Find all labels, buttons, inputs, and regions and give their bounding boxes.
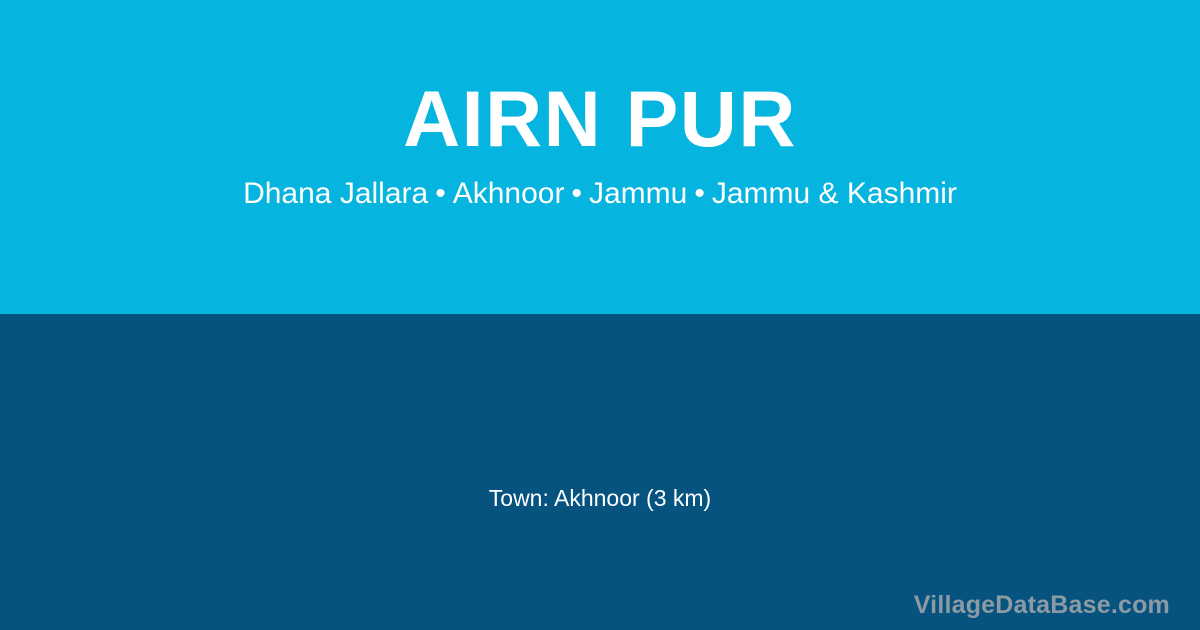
site-watermark: VillageDataBase.com <box>914 590 1170 620</box>
village-info-card: AIRN PUR Dhana Jallara•Akhnoor•Jammu•Jam… <box>0 0 1200 630</box>
breadcrumb-separator: • <box>564 177 589 210</box>
breadcrumb-separator: • <box>428 177 453 210</box>
nearest-town-detail: Town: Akhnoor (3 km) <box>0 485 1200 513</box>
breadcrumb-item-district: Jammu <box>589 177 687 210</box>
breadcrumb-separator: • <box>687 177 712 210</box>
breadcrumb-item-state: Jammu & Kashmir <box>712 177 957 210</box>
page-title: AIRN PUR <box>403 78 797 161</box>
body-section: Town: Akhnoor (3 km) <box>0 314 1200 630</box>
breadcrumb-item-town: Akhnoor <box>453 177 565 210</box>
header-section: AIRN PUR Dhana Jallara•Akhnoor•Jammu•Jam… <box>0 0 1200 314</box>
breadcrumb: Dhana Jallara•Akhnoor•Jammu•Jammu & Kash… <box>243 176 957 212</box>
breadcrumb-item-village: Dhana Jallara <box>243 177 428 210</box>
